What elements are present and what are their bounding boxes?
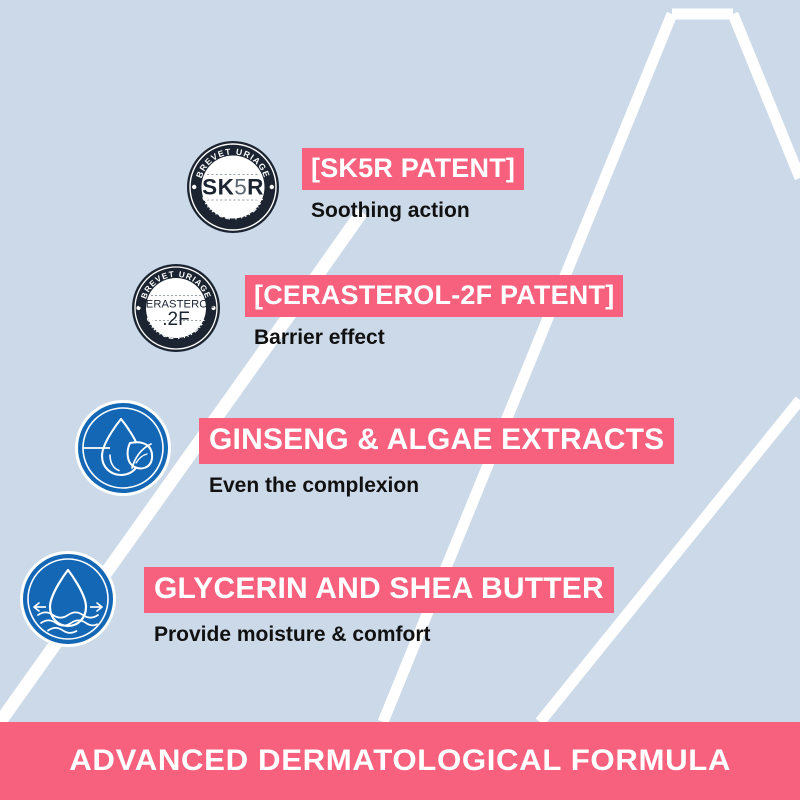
feature-text-glycerin-shea: GLYCERIN AND SHEA BUTTER Provide moistur…: [144, 567, 614, 645]
svg-text:SK5R: SK5R: [202, 175, 264, 200]
feature-headline: GINSENG & ALGAE EXTRACTS: [199, 418, 674, 464]
droplet-waves-hydration-icon: [19, 550, 117, 648]
feature-headline: [CERASTEROL-2F PATENT]: [245, 275, 623, 317]
banner-title: ADVANCED DERMATOLOGICAL FORMULA: [69, 744, 731, 778]
feature-row-glycerin-shea: GLYCERIN AND SHEA BUTTER Provide moistur…: [19, 550, 614, 648]
feature-subline: Barrier effect: [254, 327, 385, 348]
droplet-leaf-icon: [74, 399, 172, 497]
feature-text-cerasterol: [CERASTEROL-2F PATENT] Barrier effect: [245, 275, 623, 348]
svg-text:.2F: .2F: [162, 309, 189, 330]
infographic-canvas: SK5R BREVET URIAGE URIAGE PATENT [SK5R P…: [0, 0, 800, 800]
feature-headline: GLYCERIN AND SHEA BUTTER: [144, 567, 614, 613]
feature-subline: Even the complexion: [209, 475, 419, 496]
feature-headline: [SK5R PATENT]: [302, 148, 524, 190]
sk5r-patent-seal: SK5R BREVET URIAGE URIAGE PATENT: [186, 140, 280, 234]
feature-row-ginseng-algae: GINSENG & ALGAE EXTRACTS Even the comple…: [74, 399, 674, 497]
feature-text-ginseng-algae: GINSENG & ALGAE EXTRACTS Even the comple…: [199, 418, 674, 496]
feature-subline: Provide moisture & comfort: [154, 624, 431, 645]
feature-text-sk5r: [SK5R PATENT] Soothing action: [302, 148, 524, 221]
feature-row-cerasterol: CERASTEROL .2F BREVET URIAGE URIAGE PATE…: [131, 263, 623, 353]
cerasterol-2f-patent-seal: CERASTEROL .2F BREVET URIAGE URIAGE PATE…: [131, 263, 221, 353]
feature-row-sk5r: SK5R BREVET URIAGE URIAGE PATENT [SK5R P…: [186, 140, 524, 234]
feature-subline: Soothing action: [311, 200, 470, 221]
bottom-banner: ADVANCED DERMATOLOGICAL FORMULA: [0, 722, 800, 800]
